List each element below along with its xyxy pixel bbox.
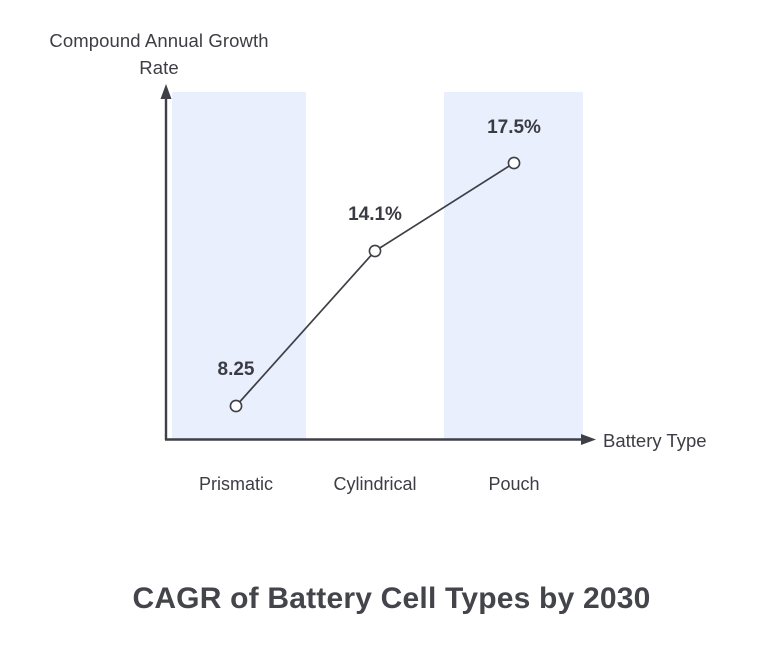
band-prismatic xyxy=(172,92,306,440)
value-label-prismatic: 8.25 xyxy=(179,358,293,382)
y-axis-arrow-icon xyxy=(161,84,172,99)
band-pouch xyxy=(444,92,583,440)
data-point-pouch xyxy=(508,157,519,168)
data-point-cylindrical xyxy=(369,245,380,256)
value-label-pouch: 17.5% xyxy=(457,116,571,140)
chart-title: CAGR of Battery Cell Types by 2030 xyxy=(0,578,783,620)
x-tick-label-pouch: Pouch xyxy=(444,472,584,496)
x-tick-label-prismatic: Prismatic xyxy=(166,472,306,496)
chart-container: Compound Annual Growth Rate 8.25 14.1% 1 xyxy=(0,0,783,654)
data-point-prismatic xyxy=(230,400,241,411)
x-axis-title: Battery Type xyxy=(603,428,707,454)
y-axis xyxy=(161,84,172,440)
category-bands xyxy=(172,92,583,440)
x-axis-arrow-icon xyxy=(581,434,596,445)
x-tick-label-cylindrical: Cylindrical xyxy=(305,472,445,496)
value-label-cylindrical: 14.1% xyxy=(318,203,432,227)
